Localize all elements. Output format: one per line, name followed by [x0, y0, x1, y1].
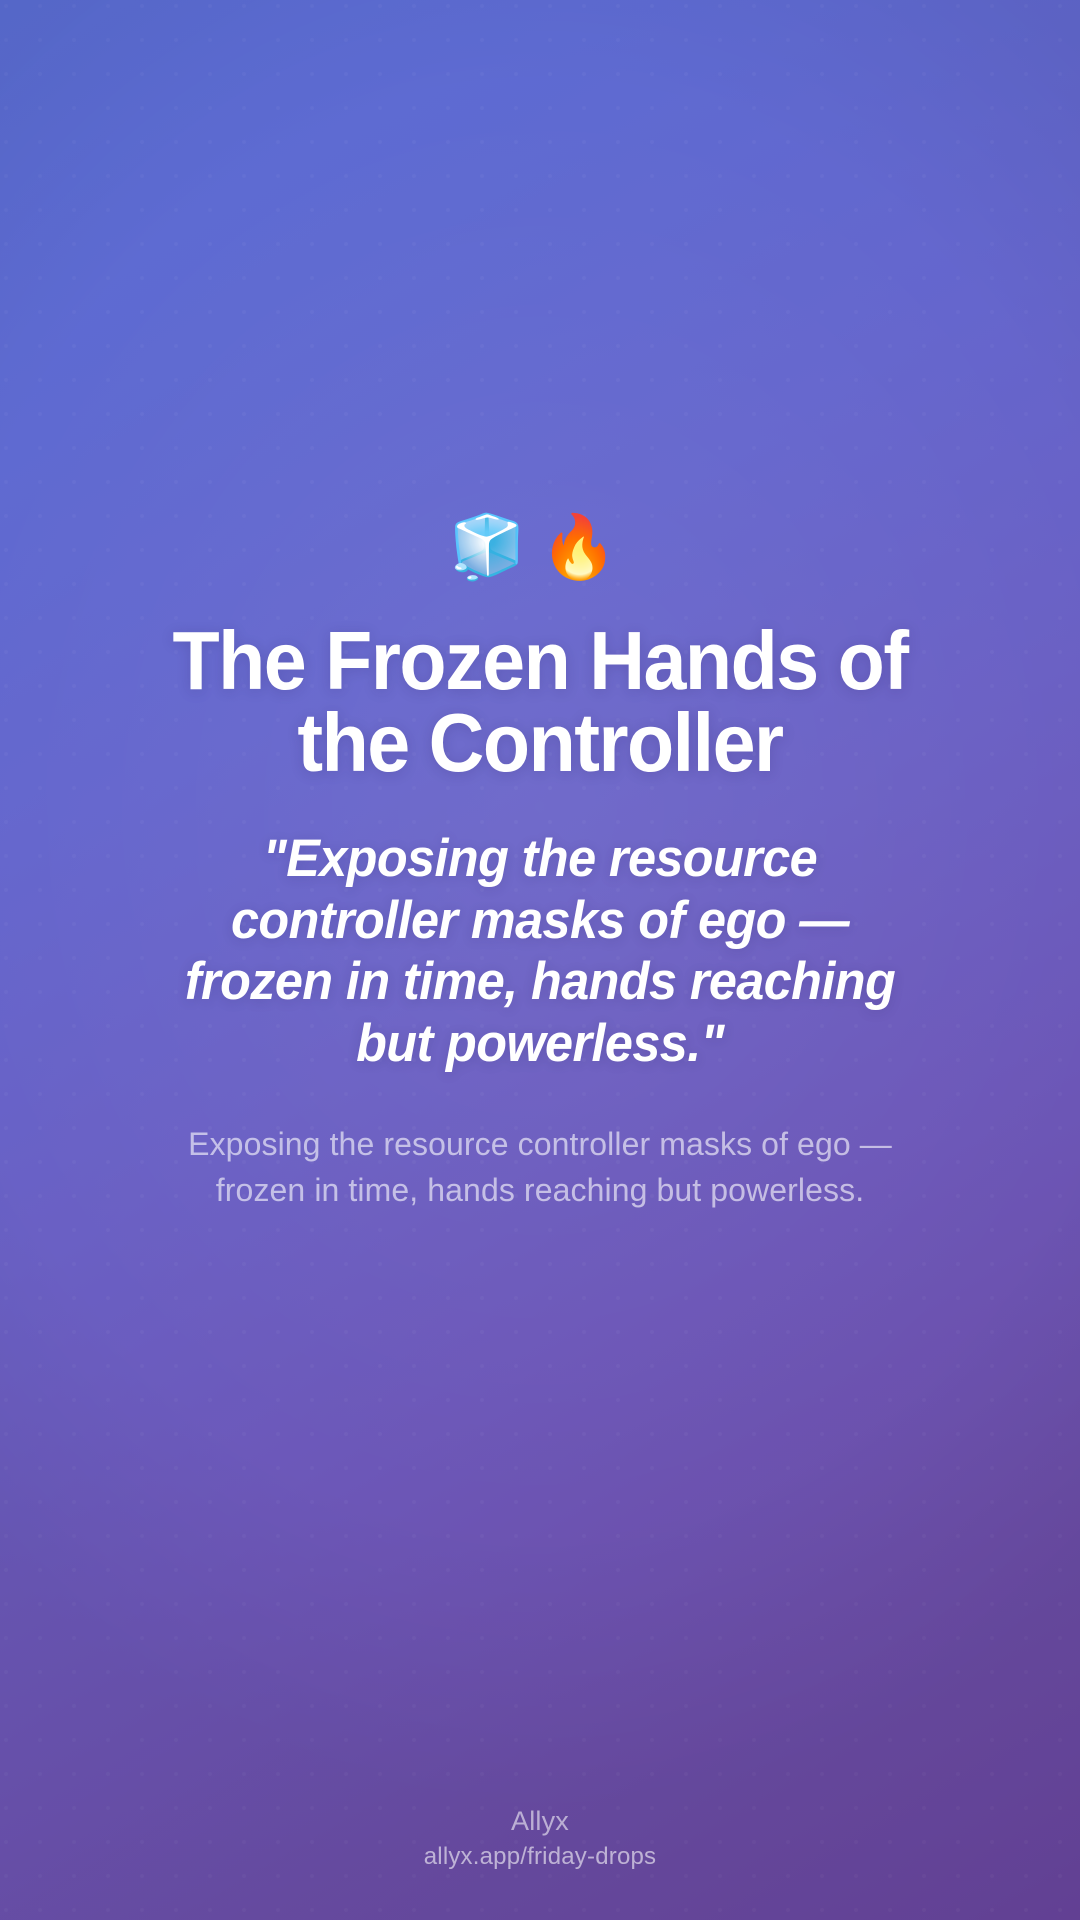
pull-quote: "Exposing the resource controller masks …: [165, 828, 916, 1074]
story-card: 🧊🔥 The Frozen Hands of the Controller "E…: [0, 0, 1080, 1920]
footer-url[interactable]: allyx.app/friday-drops: [0, 1841, 1080, 1872]
card-description: Exposing the resource controller masks o…: [160, 1122, 920, 1213]
emoji-row: 🧊🔥: [449, 516, 631, 578]
page-title: The Frozen Hands of the Controller: [140, 620, 940, 784]
fire-emoji: 🔥: [540, 516, 631, 578]
ice-cube-emoji: 🧊: [449, 516, 540, 578]
card-content: 🧊🔥 The Frozen Hands of the Controller "E…: [0, 0, 1080, 1920]
card-footer: Allyx allyx.app/friday-drops: [0, 1804, 1080, 1872]
brand-name: Allyx: [0, 1804, 1080, 1839]
